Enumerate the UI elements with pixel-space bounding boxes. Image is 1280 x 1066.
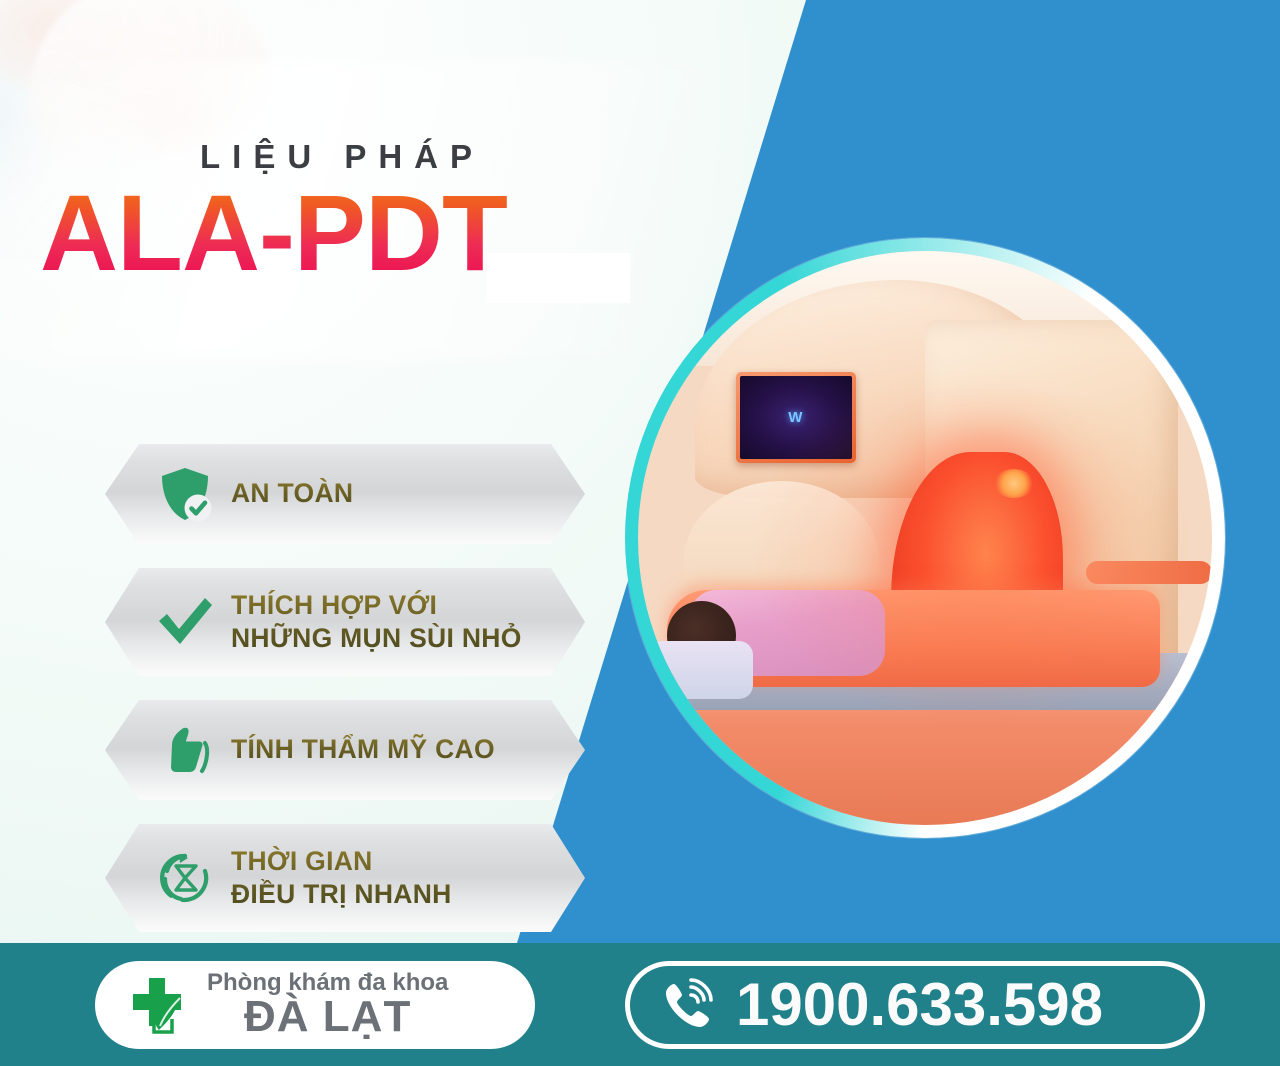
clinic-brand-pill[interactable]: Phòng khám đa khoa ĐÀ LẠT — [95, 961, 535, 1049]
headline-title: ALA-PDT — [40, 183, 507, 282]
machine-monitor: W — [736, 372, 857, 464]
feature-badge-thich-hop[interactable]: THÍCH HỢP VỚI NHỮNG MỤN SÙI NHỎ — [105, 568, 585, 676]
clock-hourglass-icon — [139, 849, 231, 907]
check-mark-icon — [139, 594, 231, 650]
phone-number[interactable]: 1900.633.598 — [736, 975, 1103, 1035]
feature-label: TÍNH THẨM MỸ CAO — [231, 733, 505, 766]
machine-arm — [1086, 561, 1212, 584]
light-hotspot — [994, 469, 1034, 498]
feature-line-1: AN TOÀN — [231, 478, 353, 508]
white-cover-patch — [487, 253, 630, 303]
phone-call-icon — [660, 977, 722, 1033]
feature-line-2: ĐIỀU TRỊ NHANH — [231, 878, 452, 911]
phone-cta-pill[interactable]: 1900.633.598 — [625, 961, 1205, 1049]
feature-list: AN TOÀN THÍCH HỢP VỚI NHỮNG MỤN SÙI NHỎ — [105, 444, 591, 956]
clinic-name-block: Phòng khám đa khoa ĐÀ LẠT — [207, 970, 448, 1040]
feature-line-1: THỜI GIAN — [231, 846, 373, 876]
clinic-title: ĐÀ LẠT — [207, 995, 448, 1040]
monitor-screen: W — [740, 376, 853, 460]
feature-label: THÍCH HỢP VỚI NHỮNG MỤN SÙI NHỎ — [231, 589, 532, 656]
feature-label: THỜI GIAN ĐIỀU TRỊ NHANH — [231, 845, 462, 912]
footer-bar: Phòng khám đa khoa ĐÀ LẠT 1900.633.598 — [0, 943, 1280, 1066]
banner-canvas: LIỆU PHÁP ALA-PDT AN TOÀN — [0, 0, 1280, 1066]
treatment-photo-ring: W — [625, 238, 1225, 838]
feature-line-1: TÍNH THẨM MỸ CAO — [231, 734, 495, 764]
treatment-photo: W — [638, 251, 1212, 825]
feature-label: AN TOÀN — [231, 477, 363, 510]
feature-badge-tham-my[interactable]: TÍNH THẨM MỸ CAO — [105, 700, 585, 800]
medical-cross-leaf-icon — [119, 972, 195, 1038]
feature-badge-an-toan[interactable]: AN TOÀN — [105, 444, 585, 544]
thumbs-up-icon — [139, 723, 231, 777]
patient-pillow — [649, 641, 752, 698]
feature-badge-thoi-gian[interactable]: THỜI GIAN ĐIỀU TRỊ NHANH — [105, 824, 585, 932]
feature-line-2: NHỮNG MỤN SÙI NHỎ — [231, 622, 522, 655]
headline-kicker: LIỆU PHÁP — [40, 140, 680, 173]
feature-line-1: THÍCH HỢP VỚI — [231, 590, 437, 620]
shield-check-icon — [139, 465, 231, 523]
